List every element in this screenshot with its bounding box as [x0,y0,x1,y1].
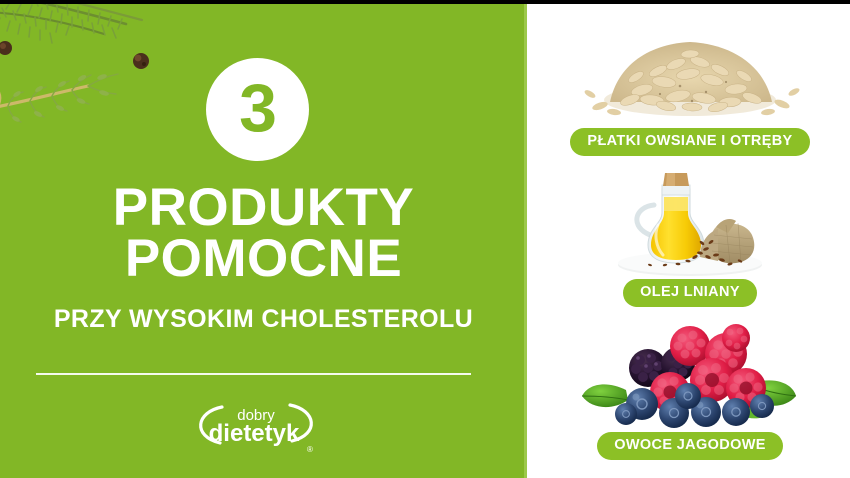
rosemary-thyme-peppercorns-decoration [0,0,236,140]
brand-logo: dobry dietetyk ® [186,392,326,456]
list-item: PŁATKI OWSIANE I OTRĘBY [530,14,850,156]
headline-line-1: PRODUKTY [113,178,414,237]
product-label-pill[interactable]: OLEJ LNIANY [623,279,757,307]
top-black-strip [0,0,850,4]
infographic-canvas: 3 PRODUKTY POMOCNE PRZY WYSOKIM CHOLESTE… [0,0,850,478]
number-badge: 3 [206,58,309,161]
product-label-pill[interactable]: PŁATKI OWSIANE I OTRĘBY [570,128,809,156]
page-subtitle: PRZY WYSOKIM CHOLESTEROLU [0,305,527,334]
headline-line-2: POMOCNE [0,233,527,284]
panel-edge-highlight [524,0,527,478]
logo-line-2: dietetyk [209,420,300,447]
number-badge-value: 3 [239,74,276,142]
left-green-panel: 3 PRODUKTY POMOCNE PRZY WYSOKIM CHOLESTE… [0,0,527,478]
list-item: OLEJ LNIANY [530,165,850,307]
mixed-berries-photo [530,318,850,430]
product-list: PŁATKI OWSIANE I OTRĘBY [530,0,850,478]
page-title: PRODUKTY POMOCNE [0,182,527,285]
list-item: OWOCE JAGODOWE [530,318,850,460]
product-label-pill[interactable]: OWOCE JAGODOWE [597,432,783,460]
oat-flakes-pile-photo [530,14,850,126]
flaxseed-oil-carafe-photo [530,165,850,277]
divider [36,373,471,375]
logo-trademark: ® [307,445,313,454]
